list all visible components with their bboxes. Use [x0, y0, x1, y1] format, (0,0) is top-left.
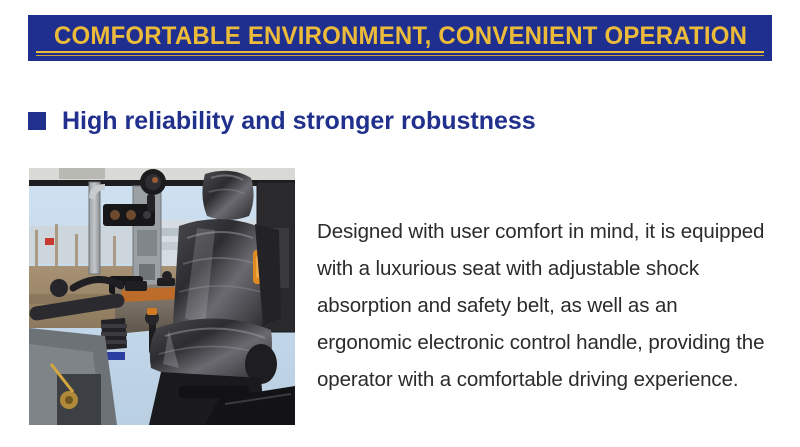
section-heading-label: High reliability and stronger robustness: [62, 106, 536, 136]
square-bullet-icon: [28, 112, 46, 130]
feature-description-text: Designed with user comfort in mind, it i…: [317, 213, 769, 398]
section-heading-row: High reliability and stronger robustness: [28, 106, 536, 136]
banner-gold-rule: [36, 51, 764, 53]
cab-interior-photo: [29, 168, 295, 425]
banner-gold-rule-secondary: [36, 55, 764, 56]
page-header-banner: COMFORTABLE ENVIRONMENT, CONVENIENT OPER…: [28, 15, 772, 61]
cab-interior-illustration: [29, 168, 295, 425]
banner-title: COMFORTABLE ENVIRONMENT, CONVENIENT OPER…: [54, 18, 747, 54]
